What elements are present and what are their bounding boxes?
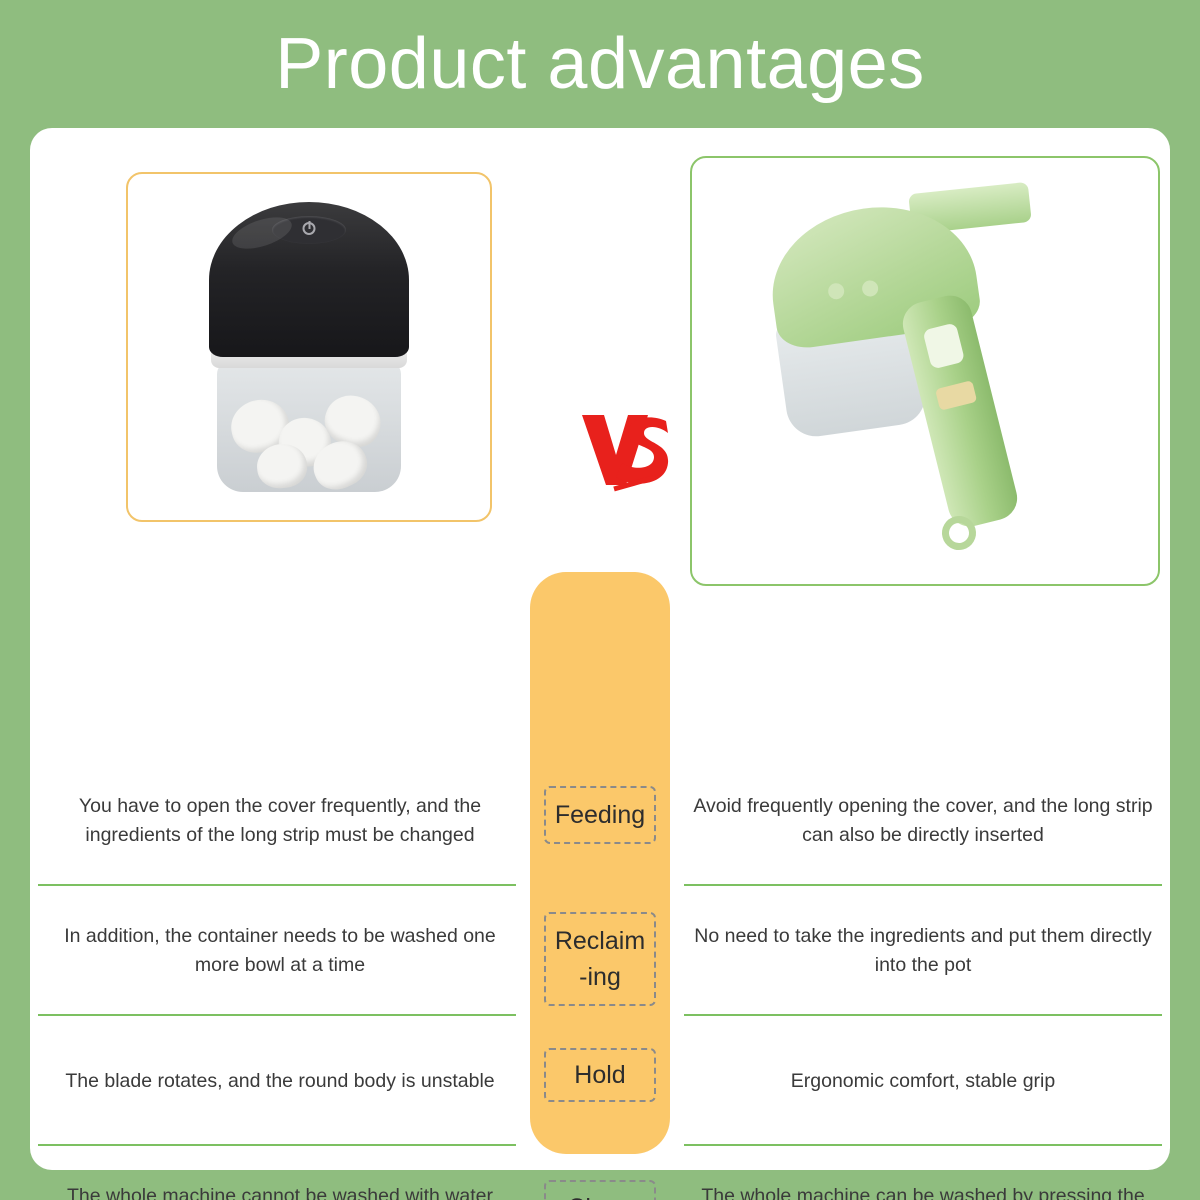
poster-root: Product advantages [0,0,1200,1200]
row-right-text: No need to take the ingredients and put … [680,886,1166,1016]
handle-power-switch [922,322,965,369]
row-label-reclaiming-line1: Reclaim [555,923,645,959]
row-left-text: The whole machine cannot be washed with … [40,1146,520,1200]
right-product-frame [690,156,1160,586]
handle-label [935,380,977,411]
row-left-text: In addition, the container needs to be w… [40,886,520,1016]
content-card: You have to open the cover frequently, a… [30,128,1170,1170]
row-left-text: The blade rotates, and the round body is… [40,1016,520,1146]
chopper-jar [217,362,401,492]
row-label-feeding: Feeding [544,786,656,844]
row-label-reclaiming-line2: -ing [579,959,621,995]
row-label-clean: Clean [544,1180,656,1200]
row-right-text: Ergonomic comfort, stable grip [680,1016,1166,1146]
power-icon [303,222,316,235]
vs-badge [570,393,680,503]
row-label-reclaiming: Reclaim -ing [544,912,656,1006]
row-right-text: Avoid frequently opening the cover, and … [680,756,1166,886]
left-product-frame [126,172,492,522]
green-handheld-food-chopper-icon [760,186,1090,556]
chopper-lid [209,202,409,357]
row-label-hold: Hold [544,1048,656,1102]
comparison-table: You have to open the cover frequently, a… [30,560,1170,1160]
page-title: Product advantages [0,18,1200,110]
row-left-text: You have to open the cover frequently, a… [40,756,520,886]
row-right-text: The whole machine can be washed by press… [680,1146,1166,1200]
black-mini-garlic-chopper-icon [199,202,419,492]
